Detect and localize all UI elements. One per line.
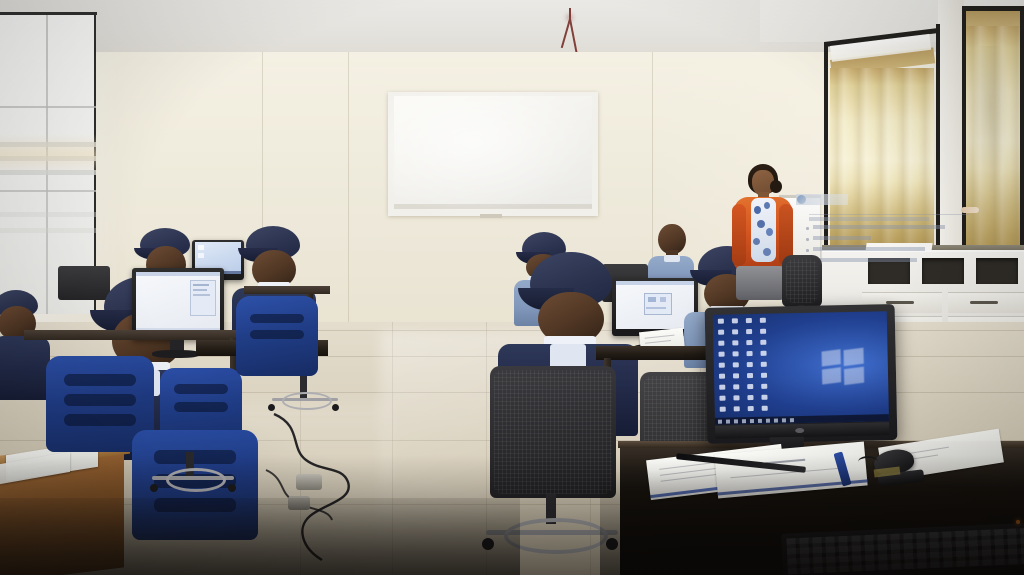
chair-base-2: [272, 392, 338, 410]
slide-bullet-2-text: Components of GIS: [813, 236, 871, 240]
presenter-blouse: [751, 198, 776, 262]
chair-caster-2: [228, 484, 236, 492]
wall-pillar: [938, 0, 964, 250]
slide-bullet-3-text: GIS application for law enforcement: [813, 247, 925, 251]
chair-caster-3: [268, 404, 275, 411]
slide-corner-badge: [961, 207, 979, 213]
slide-logo-mark-icon: [797, 195, 806, 204]
slide-bullet-1-text: Introduction to Geographical Information…: [813, 225, 945, 229]
monitor-foreground[interactable]: [705, 304, 898, 444]
slide-bullet-4: Crime analysis and prediction (QGIS): [806, 257, 976, 266]
slide-bullet-4-text: Crime analysis and prediction (QGIS): [813, 258, 917, 262]
window-right: [962, 6, 1024, 252]
student-left-edge: [0, 290, 50, 400]
chair-base-1: [152, 468, 234, 490]
foreground-shadow-left: [0, 498, 520, 575]
bullet-dot-icon: [806, 249, 809, 252]
monitor-left-front-base: [152, 350, 200, 358]
chair-caster-1: [150, 484, 158, 492]
cabinet-cubby-3: [976, 258, 1018, 284]
wall-panel-seam-2: [348, 52, 349, 322]
bullet-dot-icon: [806, 227, 809, 230]
foreground-shadow-right: [600, 470, 1024, 575]
ceiling-wire: [560, 8, 578, 56]
glass-partition-top-frame: [0, 12, 97, 15]
cabinet-drawer-handle-2[interactable]: [970, 301, 998, 304]
desk-center: [596, 346, 716, 360]
slide-bullet-3: GIS application for law enforcement: [806, 246, 976, 255]
projector-screen-surface: Introduction to Geographical Information…: [394, 96, 592, 208]
monitor-foreground-screen[interactable]: [713, 311, 889, 425]
slide-title-rule: [809, 214, 969, 215]
slide-bullet-list: Introduction to Geographical Information…: [806, 224, 976, 268]
window-left: [824, 18, 940, 250]
bullet-dot-icon: [806, 238, 809, 241]
office-chair-presenter[interactable]: [782, 255, 822, 307]
desk-left-mid: [244, 286, 330, 294]
chair-blue-4[interactable]: [236, 296, 318, 376]
presenter-arm-left: [732, 204, 746, 266]
classroom-photo-scene: Introduction to Geographical Information…: [0, 0, 1024, 575]
desktop-icon-grid[interactable]: [718, 317, 782, 414]
mouse-cable: [858, 456, 878, 468]
projector-screen-pull-tab[interactable]: [480, 214, 502, 218]
slide-bullet-1: Introduction to Geographical Information…: [806, 224, 976, 233]
office-chair-center[interactable]: [490, 366, 616, 498]
slide-bullet-2: Components of GIS: [806, 235, 976, 244]
slide-title-text: [809, 217, 929, 221]
windows-logo-icon: [822, 350, 865, 385]
presenter-hair-bun: [770, 180, 782, 193]
chair-caster-4: [332, 404, 339, 411]
presenter-lower: [736, 266, 784, 300]
desk-left-rear: [24, 330, 250, 340]
slide-footer-bar: [394, 204, 592, 209]
power-adapter: [296, 474, 322, 490]
